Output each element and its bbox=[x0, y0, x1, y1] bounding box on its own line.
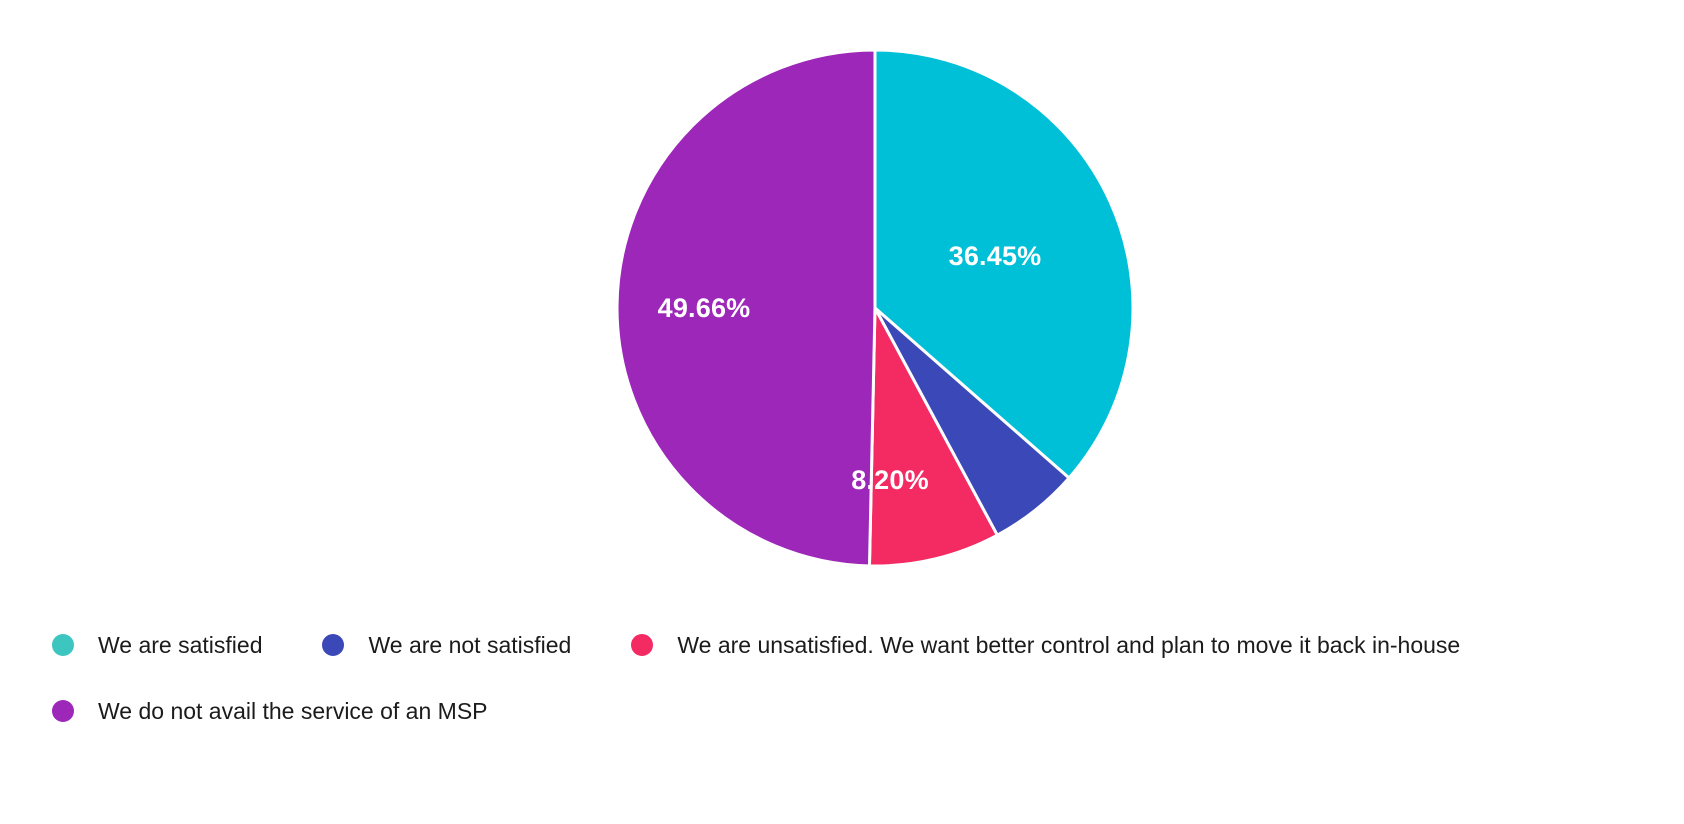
legend-item[interactable]: We are satisfied bbox=[52, 612, 262, 678]
legend-item-label: We are not satisfied bbox=[368, 634, 571, 657]
legend-color-dot-icon bbox=[631, 634, 653, 656]
pie-slice-value-label: 36.45% bbox=[949, 241, 1042, 271]
legend-item-label: We do not avail the service of an MSP bbox=[98, 700, 488, 723]
pie-slice-value-label: 49.66% bbox=[658, 293, 751, 323]
pie-chart-page: 36.45%8.20%49.66% We are satisfiedWe are… bbox=[0, 0, 1684, 824]
chart-legend: We are satisfiedWe are not satisfiedWe a… bbox=[52, 612, 1652, 744]
pie-slice-value-label: 8.20% bbox=[851, 465, 929, 495]
legend-item[interactable]: We are not satisfied bbox=[322, 612, 571, 678]
legend-item-label: We are satisfied bbox=[98, 634, 262, 657]
legend-color-dot-icon bbox=[52, 700, 74, 722]
pie-chart-svg: 36.45%8.20%49.66% bbox=[0, 0, 1684, 600]
legend-item[interactable]: We are unsatisfied. We want better contr… bbox=[631, 612, 1460, 678]
legend-item-label: We are unsatisfied. We want better contr… bbox=[677, 634, 1460, 657]
legend-color-dot-icon bbox=[52, 634, 74, 656]
legend-row: We are satisfiedWe are not satisfiedWe a… bbox=[52, 612, 1652, 678]
legend-item[interactable]: We do not avail the service of an MSP bbox=[52, 678, 488, 744]
legend-color-dot-icon bbox=[322, 634, 344, 656]
chart-plot-area: 36.45%8.20%49.66% bbox=[0, 0, 1684, 600]
legend-row: We do not avail the service of an MSP bbox=[52, 678, 1652, 744]
